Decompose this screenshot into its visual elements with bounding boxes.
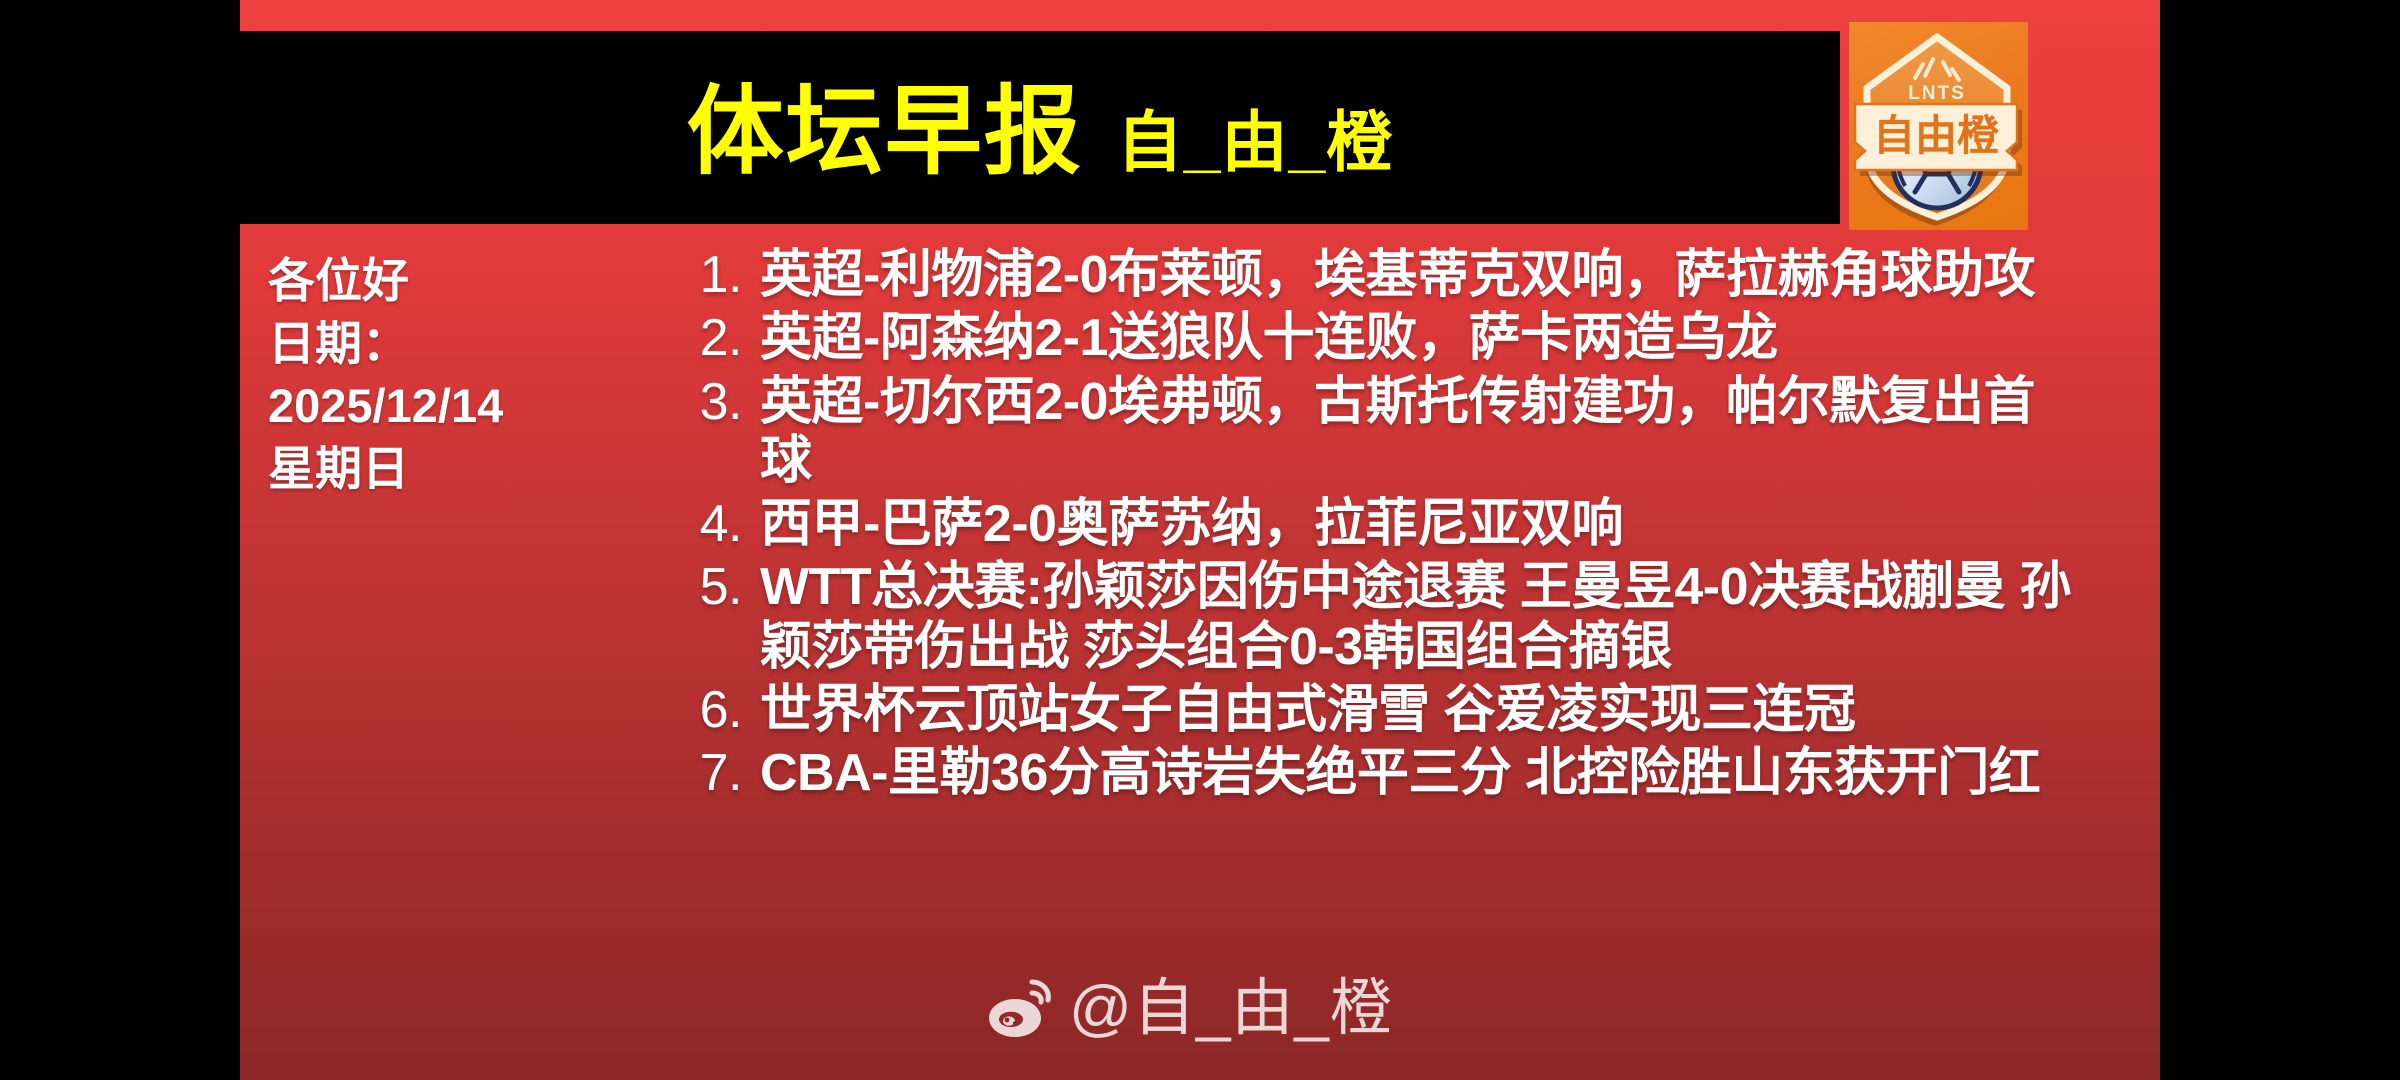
weibo-handle: @自_由_橙 — [1069, 978, 1393, 1040]
page-subtitle: 自_由_橙 — [1117, 109, 1393, 175]
list-item: 7. CBA-里勒36分高诗岩失绝平三分 北控险胜山东获开门红 — [672, 744, 2072, 803]
logo-abbrev: LNTS — [1908, 83, 1966, 104]
list-item-number: 6. — [676, 681, 742, 740]
list-item-number: 5. — [676, 558, 742, 617]
list-item-text: CBA-里勒36分高诗岩失绝平三分 北控险胜山东获开门红 — [760, 744, 2072, 803]
date-label: 日期： — [268, 313, 628, 376]
page-title: 体坛早报 — [687, 83, 1083, 180]
greeting-text: 各位好 — [268, 250, 628, 313]
list-item-text: WTT总决赛:孙颖莎因伤中途退赛 王曼昱4-0决赛战蒯曼 孙颖莎带伤出战 莎头组… — [760, 558, 2072, 677]
meta-column: 各位好 日期： 2025/12/14 星期日 — [268, 250, 628, 500]
list-item: 2. 英超-阿森纳2-1送狼队十连败，萨卡两造乌龙 — [672, 309, 2072, 368]
list-item-text: 英超-切尔西2-0埃弗顿，古斯托传射建功，帕尔默复出首球 — [760, 373, 2072, 492]
logo-brand-name: 自由橙 — [1873, 112, 2000, 159]
brand-logo: LNTS 自由橙 — [1849, 22, 2028, 230]
list-item-number: 2. — [676, 309, 742, 368]
title-band: 体坛早报 自_由_橙 — [240, 31, 1840, 224]
title-band-inner: 体坛早报 自_由_橙 — [687, 83, 1393, 180]
date-value: 2025/12/14 — [268, 375, 628, 438]
list-item-text: 世界杯云顶站女子自由式滑雪 谷爱凌实现三连冠 — [760, 681, 2072, 740]
list-item-text: 英超-利物浦2-0布莱顿，埃基蒂克双响，萨拉赫角球助攻 — [760, 246, 2072, 305]
logo-artwork: LNTS 自由橙 — [1849, 22, 2028, 230]
list-item-number: 1. — [676, 246, 742, 305]
list-item: 3. 英超-切尔西2-0埃弗顿，古斯托传射建功，帕尔默复出首球 — [672, 373, 2072, 492]
news-list: 1. 英超-利物浦2-0布莱顿，埃基蒂克双响，萨拉赫角球助攻 2. 英超-阿森纳… — [672, 246, 2072, 807]
weibo-watermark: @自_由_橙 — [985, 977, 1393, 1041]
weibo-icon — [985, 977, 1059, 1041]
list-item-number: 4. — [676, 495, 742, 554]
list-item: 5. WTT总决赛:孙颖莎因伤中途退赛 王曼昱4-0决赛战蒯曼 孙颖莎带伤出战 … — [672, 558, 2072, 677]
list-item: 1. 英超-利物浦2-0布莱顿，埃基蒂克双响，萨拉赫角球助攻 — [672, 246, 2072, 305]
list-item: 6. 世界杯云顶站女子自由式滑雪 谷爱凌实现三连冠 — [672, 681, 2072, 740]
weekday-text: 星期日 — [268, 438, 628, 501]
list-item-text: 西甲-巴萨2-0奥萨苏纳，拉菲尼亚双响 — [760, 495, 2072, 554]
poster-canvas: 体坛早报 自_由_橙 — [0, 0, 2400, 1080]
list-item: 4. 西甲-巴萨2-0奥萨苏纳，拉菲尼亚双响 — [672, 495, 2072, 554]
list-item-number: 7. — [676, 744, 742, 803]
list-item-text: 英超-阿森纳2-1送狼队十连败，萨卡两造乌龙 — [760, 309, 2072, 368]
list-item-number: 3. — [676, 373, 742, 432]
